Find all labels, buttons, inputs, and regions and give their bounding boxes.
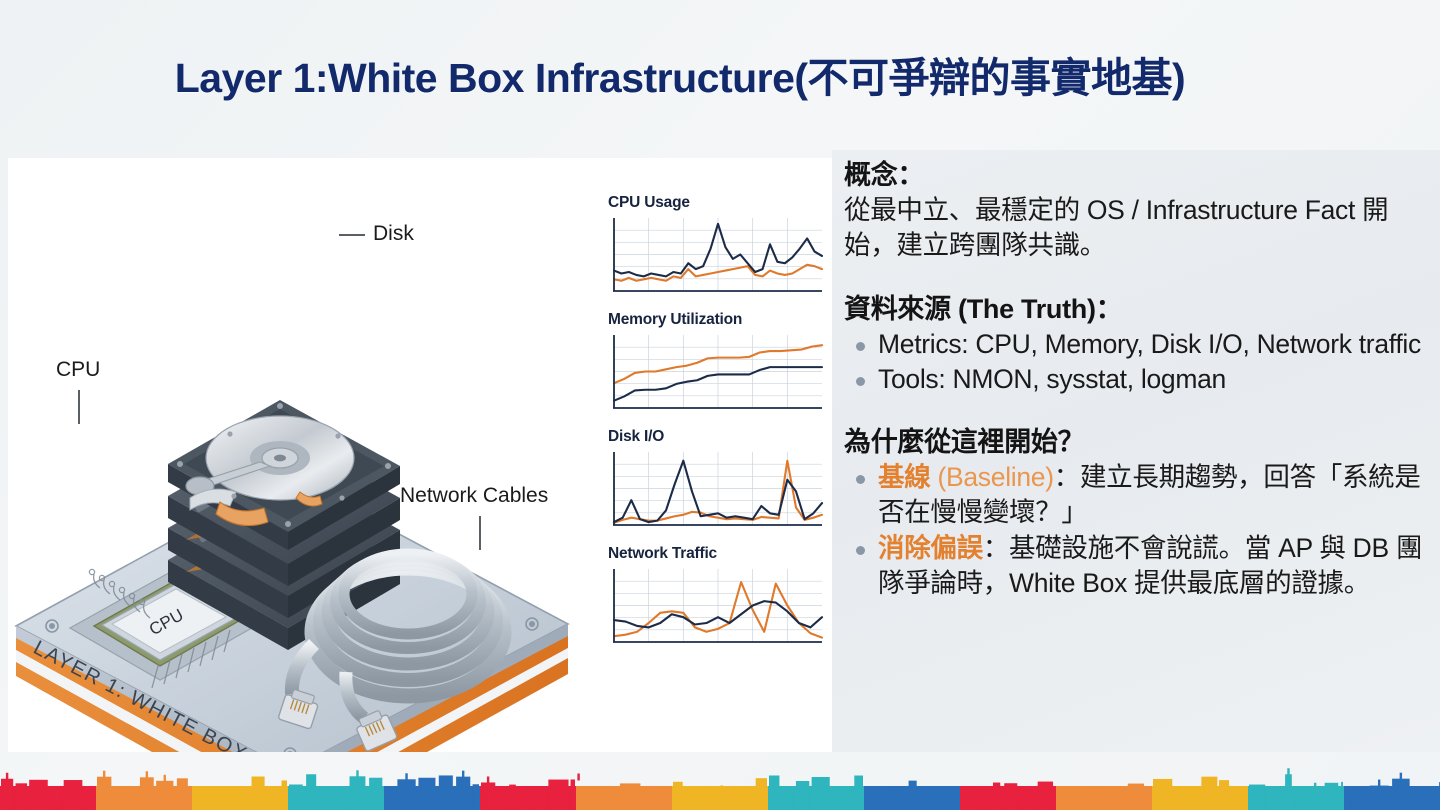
section-concept: 概念： 從最中立、最穩定的 OS / Infrastructure Fact 開…	[844, 158, 1432, 264]
label-network-cables: Network Cables	[400, 484, 548, 508]
section-why-start-here: 為什麼從這裡開始？ 基線 (Baseline)：建立長期趨勢，回答「系統是否在慢…	[844, 425, 1432, 601]
skyline-segment	[864, 781, 961, 810]
skyline-segment	[960, 782, 1057, 810]
skyline-segment	[96, 771, 193, 810]
skyline-footer-decoration	[0, 752, 1440, 810]
illustration-and-charts-panel: LAYER 1: WHITE BOX INFRASTRUCTURE CPU	[8, 158, 832, 752]
skyline-segment	[1152, 777, 1249, 810]
white-box-illustration: LAYER 1: WHITE BOX INFRASTRUCTURE CPU	[8, 158, 596, 752]
why-bullet-list: 基線 (Baseline)：建立長期趨勢，回答「系統是否在慢慢變壞？」 消除偏誤…	[844, 460, 1432, 601]
chart-memory-utilization: Memory Utilization	[608, 311, 824, 411]
data-source-bullet-list: Metrics: CPU, Memory, Disk I/O, Network …	[844, 327, 1432, 397]
section-why-start-here-heading: 為什麼從這裡開始？	[844, 425, 1432, 460]
skyline-segment	[576, 783, 673, 810]
bullet-accent-baseline: 基線	[878, 462, 930, 492]
skyline-segment	[1056, 784, 1153, 810]
bullet-text: Metrics: CPU, Memory, Disk I/O, Network …	[878, 329, 1421, 359]
hardware-isometric-drawing: LAYER 1: WHITE BOX INFRASTRUCTURE CPU	[8, 158, 596, 752]
spacer-1	[844, 264, 1432, 292]
skyline-segment	[768, 775, 865, 810]
chart-title-cpu-usage: CPU Usage	[608, 194, 824, 212]
skyline-segment	[0, 773, 97, 810]
skyline-segment	[1248, 768, 1345, 810]
chart-title-disk-io: Disk I/O	[608, 428, 824, 446]
skyline-segment	[192, 777, 289, 810]
explanation-text-panel: 概念： 從最中立、最穩定的 OS / Infrastructure Fact 開…	[832, 150, 1440, 752]
list-item: Metrics: CPU, Memory, Disk I/O, Network …	[844, 327, 1432, 362]
chart-plot-memory-utilization	[608, 333, 824, 411]
bullet-accent-remove-bias: 消除偏誤	[878, 533, 983, 563]
skyline-svg	[0, 752, 1440, 810]
list-item: 基線 (Baseline)：建立長期趨勢，回答「系統是否在慢慢變壞？」	[844, 460, 1432, 530]
section-concept-body: 從最中立、最穩定的 OS / Infrastructure Fact 開始，建立…	[844, 193, 1432, 263]
skyline-segment	[480, 773, 580, 810]
page-title: Layer 1:White Box Infrastructure(不可爭辯的事實…	[0, 44, 1360, 104]
skyline-segment	[384, 771, 481, 810]
bullet-accent-baseline-english: (Baseline)	[930, 462, 1053, 492]
metrics-charts-column: CPU Usage Memory Utilization Disk I/O Ne…	[596, 158, 832, 752]
chart-plot-cpu-usage	[608, 216, 824, 294]
chart-network-traffic: Network Traffic	[608, 545, 824, 645]
chart-title-network-traffic: Network Traffic	[608, 545, 824, 563]
chart-plot-network-traffic	[608, 567, 824, 645]
network-cables-leader-line	[479, 516, 481, 550]
chart-cpu-usage: CPU Usage	[608, 194, 824, 294]
section-data-source-heading: 資料來源 (The Truth)：	[844, 292, 1432, 327]
list-item: Tools: NMON, sysstat, logman	[844, 362, 1432, 397]
label-disk: Disk	[373, 222, 414, 246]
section-concept-heading: 概念：	[844, 158, 1432, 193]
chart-disk-io: Disk I/O	[608, 428, 824, 528]
skyline-segment	[1344, 773, 1440, 810]
chart-title-memory-utilization: Memory Utilization	[608, 311, 824, 329]
disk-leader-line	[339, 234, 365, 236]
bullet-text: Tools: NMON, sysstat, logman	[878, 364, 1226, 394]
spacer-2	[844, 397, 1432, 425]
skyline-segment	[672, 778, 769, 810]
skyline-segment	[288, 770, 385, 810]
label-cpu: CPU	[56, 358, 100, 382]
list-item: 消除偏誤：基礎設施不會說謊。當 AP 與 DB 團隊爭論時，White Box …	[844, 531, 1432, 601]
chart-plot-disk-io	[608, 450, 824, 528]
section-data-source: 資料來源 (The Truth)： Metrics: CPU, Memory, …	[844, 292, 1432, 398]
cpu-leader-line	[78, 390, 80, 424]
